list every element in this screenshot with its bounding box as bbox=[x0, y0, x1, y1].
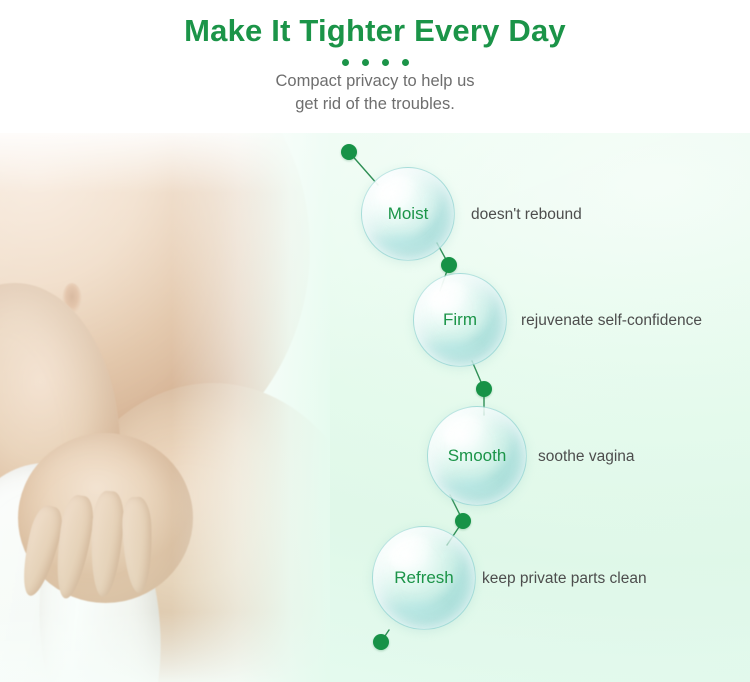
divider-dot-icon bbox=[342, 59, 349, 66]
connector-node-2-3-icon bbox=[476, 381, 492, 397]
woman-torso-photo bbox=[0, 133, 330, 682]
subtitle-line-2: get rid of the troubles. bbox=[0, 93, 750, 116]
feature-description-moist: doesn't rebound bbox=[471, 206, 582, 224]
connector-node-bottom-icon bbox=[373, 634, 389, 650]
feature-label-refresh: Refresh bbox=[373, 568, 475, 588]
feature-label-moist: Moist bbox=[362, 204, 454, 224]
photo-finger-shape bbox=[87, 490, 125, 598]
connector-node-3-4-icon bbox=[455, 513, 471, 529]
feature-bubble-moist[interactable]: Moist bbox=[361, 167, 455, 261]
connector-node-1-2-icon bbox=[441, 257, 457, 273]
feature-description-firm: rejuvenate self-confidence bbox=[521, 312, 702, 330]
feature-bubble-refresh[interactable]: Refresh bbox=[372, 526, 476, 630]
feature-bubble-smooth[interactable]: Smooth bbox=[427, 406, 527, 506]
decorative-dot-divider bbox=[0, 55, 750, 69]
feature-label-firm: Firm bbox=[414, 310, 506, 330]
feature-panel: Moist doesn't rebound Firm rejuvenate se… bbox=[0, 133, 750, 682]
feature-label-smooth: Smooth bbox=[428, 446, 526, 466]
photo-finger-shape bbox=[121, 497, 153, 594]
feature-bubble-firm[interactable]: Firm bbox=[413, 273, 507, 367]
product-feature-infographic: Make It Tighter Every Day Compact privac… bbox=[0, 0, 750, 682]
connector-node-top-icon bbox=[341, 144, 357, 160]
divider-dot-icon bbox=[382, 59, 389, 66]
subtitle-line-1: Compact privacy to help us bbox=[0, 70, 750, 93]
subtitle: Compact privacy to help us get rid of th… bbox=[0, 70, 750, 116]
divider-dot-icon bbox=[402, 59, 409, 66]
photo-hand-shape bbox=[18, 433, 193, 603]
page-title: Make It Tighter Every Day bbox=[0, 11, 750, 51]
divider-dot-icon bbox=[362, 59, 369, 66]
feature-description-smooth: soothe vagina bbox=[538, 448, 635, 466]
header-banner: Make It Tighter Every Day Compact privac… bbox=[0, 0, 750, 133]
feature-description-refresh: keep private parts clean bbox=[482, 570, 647, 588]
